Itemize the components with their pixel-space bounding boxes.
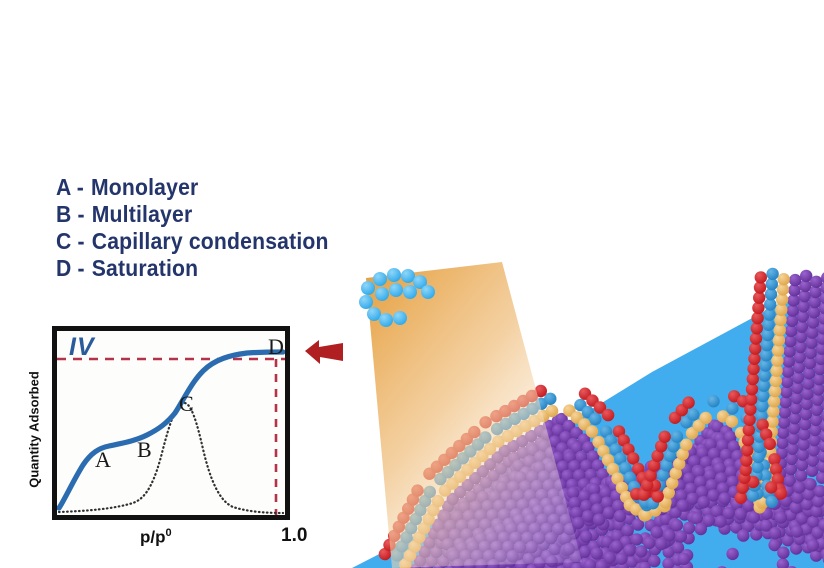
legend-label-c: Capillary condensation [92, 228, 329, 254]
x-axis-max-tick: 1.0 [281, 525, 307, 547]
isotherm-chart: IV A B C D [52, 326, 290, 520]
left-arrow-icon [303, 337, 345, 367]
curve-label-b: B [137, 437, 152, 463]
isotherm-class-label: IV [69, 333, 95, 362]
illustration-svg [352, 262, 824, 568]
legend-item-capillary-condensation: C - Capillary condensation [56, 228, 323, 255]
curve-label-a: A [95, 447, 111, 473]
legend-key-a: A - [56, 174, 84, 200]
x-axis-title-text: p/p [140, 528, 166, 547]
legend-label-a: Monolayer [91, 174, 198, 200]
isotherm-curve [59, 352, 283, 508]
legend-item-saturation: D - Saturation [56, 255, 323, 282]
x-axis-title: p/p0 [140, 527, 172, 548]
legend-list: A - Monolayer B - Multilayer C - Capilla… [56, 174, 346, 282]
legend-key-b: B - [56, 201, 85, 227]
legend-key-c: C - [56, 228, 85, 254]
curve-label-d: D [268, 334, 284, 360]
legend-key-d: D - [56, 255, 85, 281]
curve-label-c: C [179, 391, 194, 417]
legend-item-multilayer: B - Multilayer [56, 201, 323, 228]
legend-label-b: Multilayer [92, 201, 193, 227]
capillary-condensation-illustration [352, 262, 824, 568]
x-axis-title-superscript: 0 [166, 527, 172, 539]
plot-area: IV A B C D [57, 331, 285, 515]
legend-item-monolayer: A - Monolayer [56, 174, 323, 201]
y-axis-title: Quantity Adsorbed [27, 350, 42, 510]
legend-label-d: Saturation [92, 255, 198, 281]
